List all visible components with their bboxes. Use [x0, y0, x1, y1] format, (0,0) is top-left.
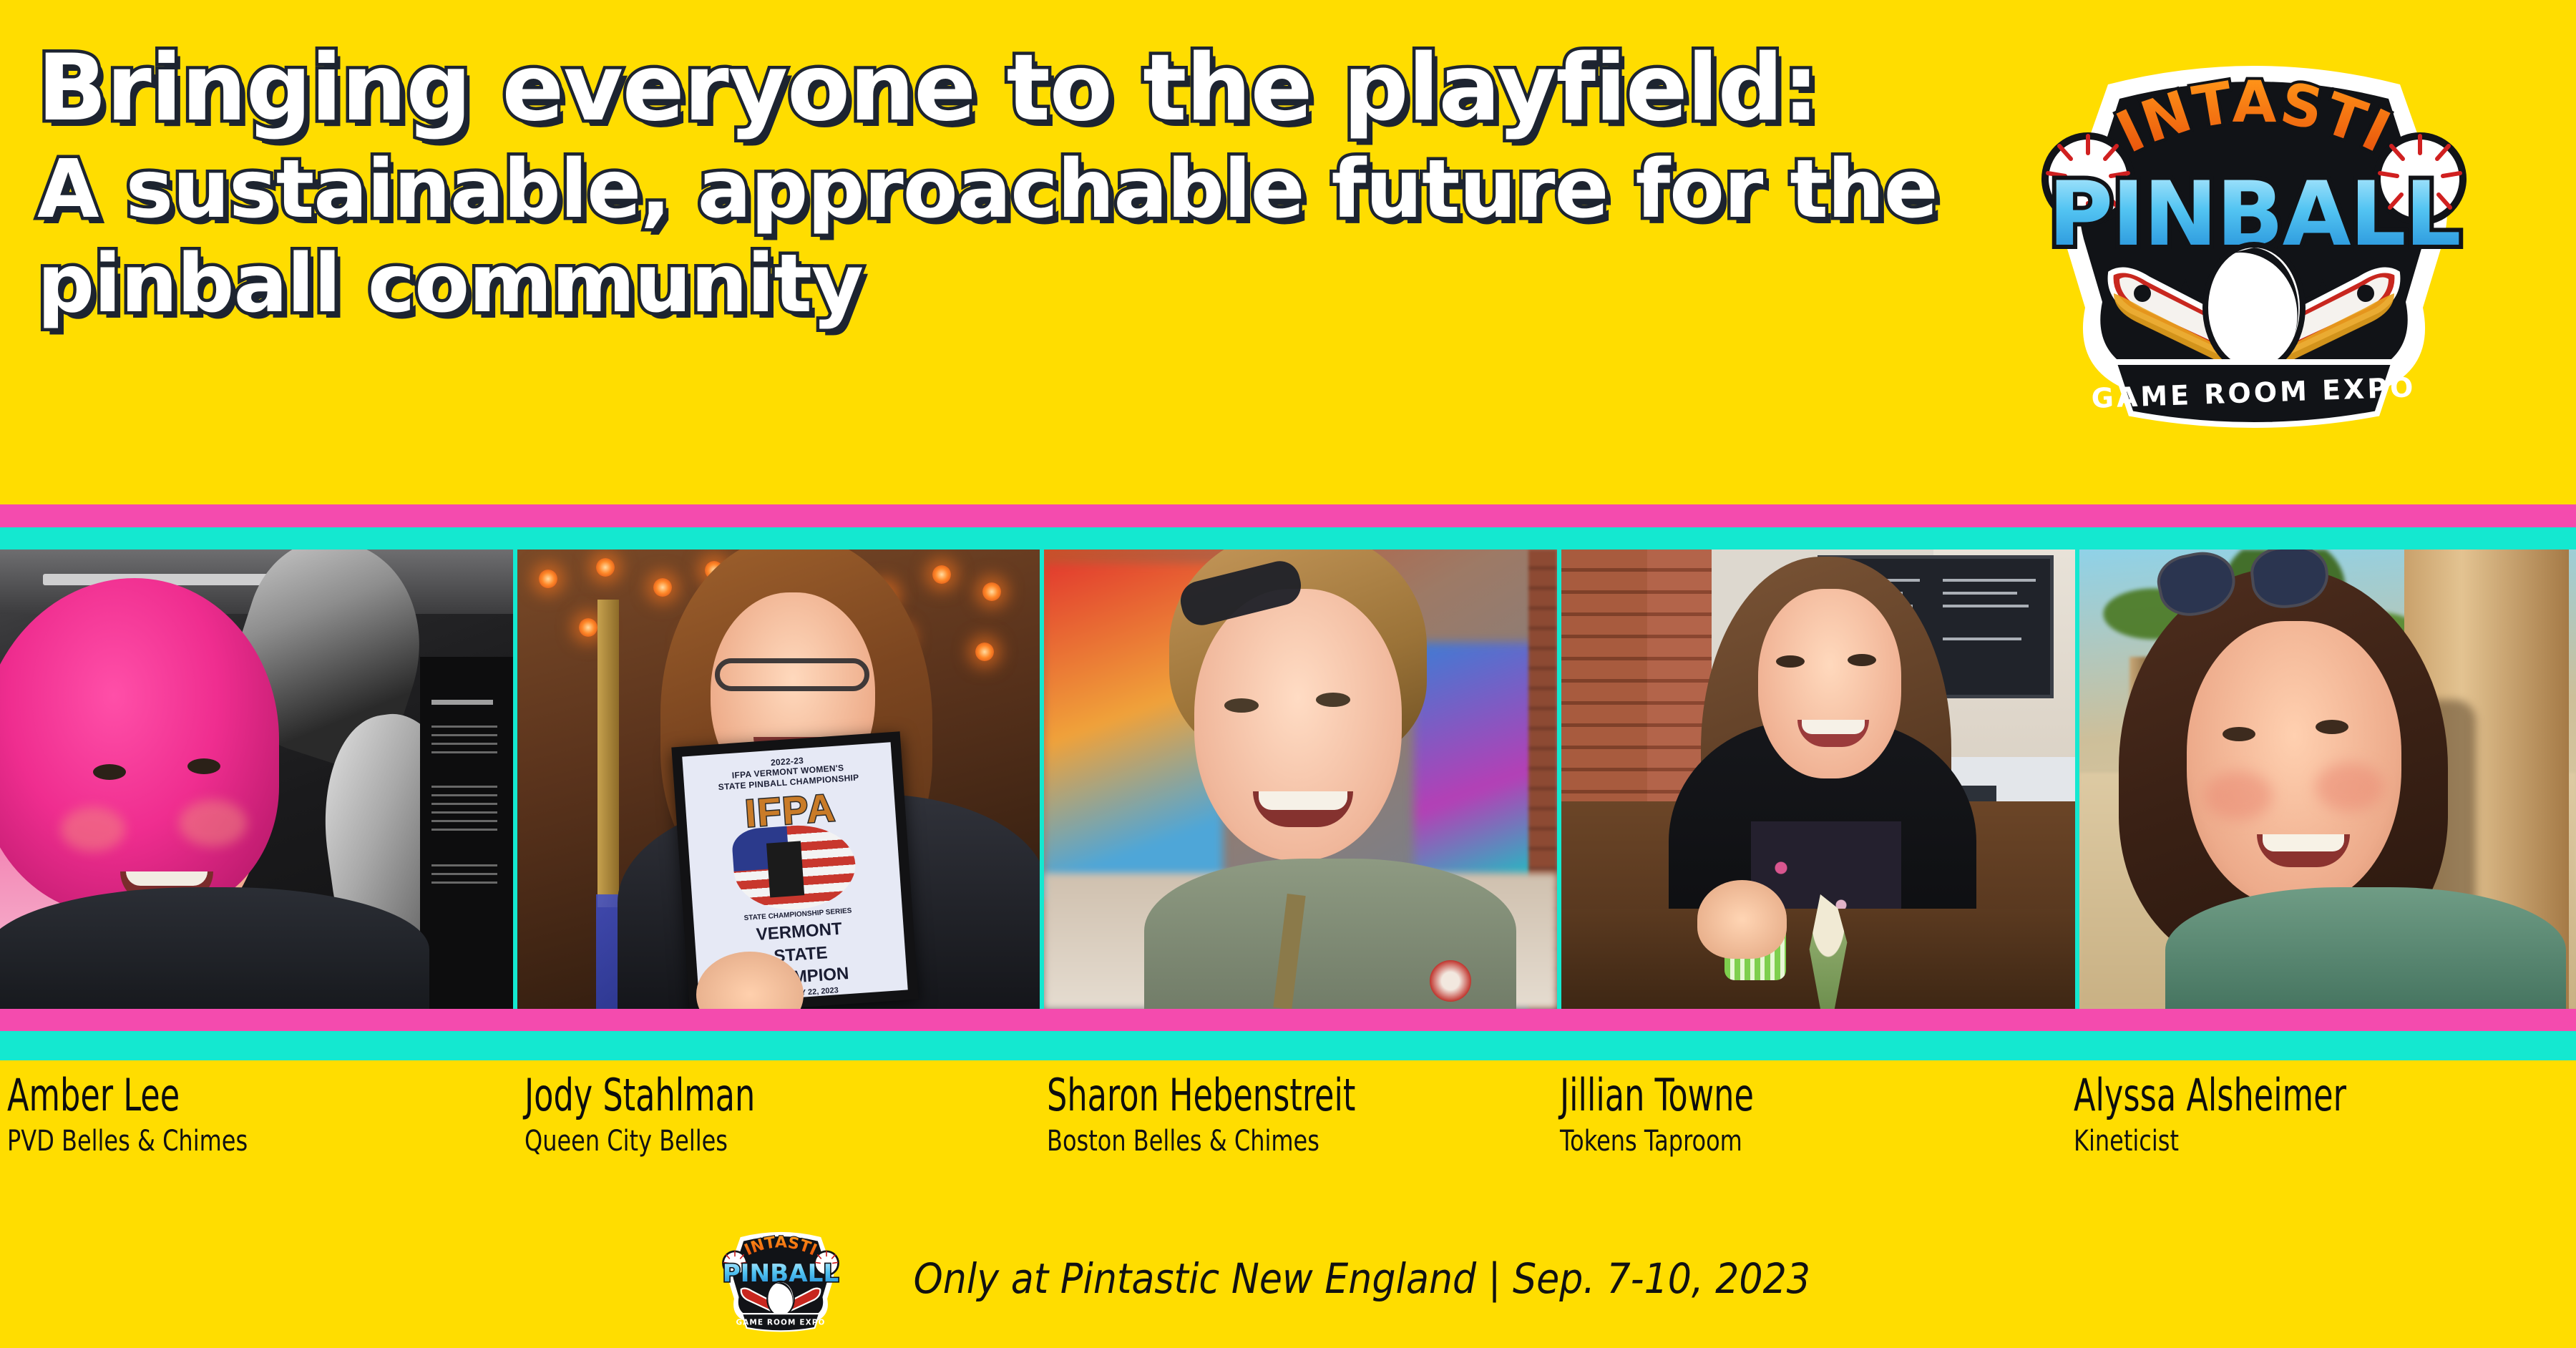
header-banner: Bringing everyone to the playfield: A su… [0, 0, 2576, 504]
footer-event-text: Only at Pintastic New England | Sep. 7-1… [913, 1254, 1810, 1303]
panelist-photo-strip: 2022-23 IFPA VERMONT WOMEN'S STATE PINBA… [0, 550, 2576, 1009]
title-line-1: Bringing everyone to the playfield: [37, 34, 2005, 142]
title-line-3: pinball community [37, 237, 2005, 331]
panelist-photo-amber-lee [0, 550, 513, 1009]
panelist-entry-5: Alyssa Alsheimer Kineticist [2067, 1060, 2576, 1203]
divider-stripe-cyan-top [0, 527, 2576, 550]
panelist-photo-jody-stahlman: 2022-23 IFPA VERMONT WOMEN'S STATE PINBA… [517, 550, 1040, 1009]
footer-bar: PINTASTIC PINBALL GAME ROOM EXPO Only at… [0, 1209, 2576, 1348]
title-line-2: A sustainable, approachable future for t… [37, 142, 2005, 237]
panelist-entry-3: Sharon Hebenstreit Boston Belles & Chime… [1040, 1060, 1553, 1203]
divider-stripe-pink-bottom [0, 1009, 2576, 1031]
panelist-entry-2: Jody Stahlman Queen City Belles [517, 1060, 1040, 1203]
svg-text:GAME ROOM EXPO: GAME ROOM EXPO [736, 1319, 825, 1327]
panelist-photo-alyssa-alsheimer [2079, 550, 2576, 1009]
panelist-name-3: Sharon Hebenstreit [1047, 1072, 1452, 1118]
panelist-affiliation-2: Queen City Belles [525, 1125, 937, 1157]
panelist-affiliation-4: Tokens Taproom [1560, 1125, 1965, 1157]
panelist-photo-sharon-hebenstreit [1044, 550, 1557, 1009]
panelist-name-5: Alyssa Alsheimer [2074, 1072, 2476, 1118]
divider-stripe-pink-top [0, 504, 2576, 527]
panelist-entry-4: Jillian Towne Tokens Taproom [1553, 1060, 2067, 1203]
panelist-affiliation-1: PVD Belles & Chimes [7, 1125, 415, 1157]
plaque-award-line-1: VERMONT [756, 920, 842, 944]
panelist-name-1: Amber Lee [7, 1072, 415, 1118]
divider-stripe-cyan-bottom [0, 1031, 2576, 1060]
panelist-entry-1: Amber Lee PVD Belles & Chimes [0, 1060, 517, 1203]
pintastic-pinball-logo: PINTASTIC PINBALL [2025, 27, 2483, 442]
panelist-photo-jillian-towne [1561, 550, 2075, 1009]
panelist-affiliation-5: Kineticist [2074, 1125, 2476, 1157]
pintastic-pinball-logo-small: PINTASTIC PINBALL GAME ROOM EXPO [716, 1221, 845, 1336]
svg-text:and: and [2239, 346, 2269, 363]
panelist-name-2: Jody Stahlman [525, 1072, 937, 1118]
plaque-flag-graphic [731, 821, 859, 914]
panelist-name-row: Amber Lee PVD Belles & Chimes Jody Stahl… [0, 1060, 2576, 1203]
panelist-name-4: Jillian Towne [1560, 1072, 1965, 1118]
page-title: Bringing everyone to the playfield: A su… [37, 34, 2005, 331]
panelist-affiliation-3: Boston Belles & Chimes [1047, 1125, 1452, 1157]
